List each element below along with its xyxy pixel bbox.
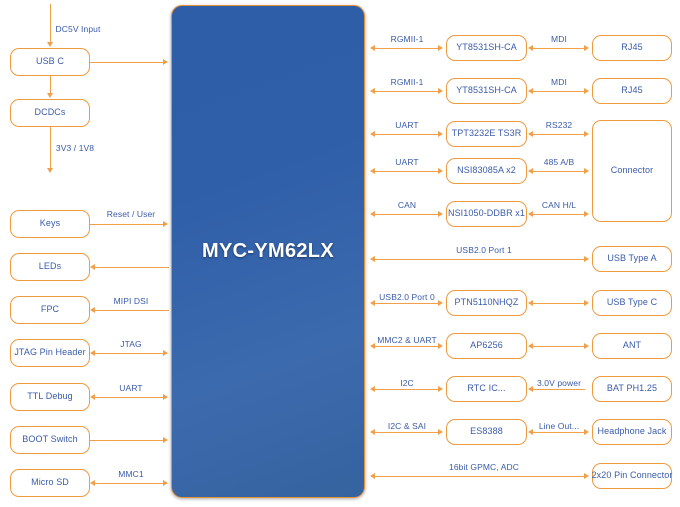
box-wifi-bt-module-label: AP6256 — [470, 341, 503, 351]
wire-usb20-port0 — [375, 303, 439, 304]
box-keys[interactable]: Keys — [10, 210, 90, 238]
box-boot-switch-label: BOOT Switch — [22, 435, 77, 445]
arrowhead-i2c-rtc-right — [438, 386, 443, 392]
wire-usbpd-to-typec — [533, 303, 585, 304]
wire-rgmii-1a — [375, 48, 439, 49]
label-rgmii-1b: RGMII-1 — [391, 77, 424, 87]
box-pin-connector[interactable]: 2x20 Pin Connector — [592, 463, 672, 489]
box-connector[interactable]: Connector — [592, 120, 672, 222]
box-usb-c-label: USB C — [36, 57, 64, 67]
box-micro-sd-label: Micro SD — [31, 478, 69, 488]
label-i2c-sai: I2C & SAI — [388, 421, 426, 431]
box-wifi-bt-module[interactable]: AP6256 — [446, 333, 527, 359]
arrowhead-usbpd-to-typec-left — [528, 300, 533, 306]
box-rs485-transceiver[interactable]: NSI83085A x2 — [446, 158, 527, 184]
box-boot-switch[interactable]: BOOT Switch — [10, 426, 90, 454]
label-usb20-port0: USB2.0 Port 0 — [379, 292, 435, 302]
wire-rs485-ab — [533, 171, 585, 172]
label-uart-rs485: UART — [395, 157, 418, 167]
wire-som-to-leds — [95, 267, 169, 268]
wire-keys-to-som — [90, 224, 164, 225]
arrowhead-mmc2-uart-left — [370, 343, 375, 349]
box-connector-label: Connector — [611, 166, 653, 176]
box-phy-2[interactable]: YT8531SH-CA — [446, 78, 527, 104]
arrowhead-uart-rs485-right — [438, 168, 443, 174]
arrowhead-can-hl-right — [584, 211, 589, 217]
wire-line-out — [533, 432, 585, 433]
arrowhead-can-hl-left — [528, 211, 533, 217]
box-dcdcs[interactable]: DCDCs — [10, 99, 90, 127]
wire-rails — [50, 127, 51, 169]
label-can-hl: CAN H/L — [542, 200, 576, 210]
wire-uart-rs232 — [375, 134, 439, 135]
box-rs232-transceiver[interactable]: TPT3232E TS3R — [446, 121, 527, 147]
arrowhead-keys-to-som — [163, 221, 168, 227]
box-micro-sd[interactable]: Micro SD — [10, 469, 90, 497]
arrowhead-rgmii-1b-left — [370, 88, 375, 94]
box-usb-type-a[interactable]: USB Type A — [592, 246, 672, 272]
label-rs485-ab: 485 A/B — [544, 157, 574, 167]
wire-mdi-2 — [533, 91, 585, 92]
arrowhead-wifi-to-ant-left — [528, 343, 533, 349]
box-fpc-label: FPC — [41, 305, 59, 315]
arrowhead-gpmc-adc-left — [370, 473, 375, 479]
label-mmc1: MMC1 — [118, 469, 143, 479]
arrowhead-rails — [47, 168, 53, 173]
arrowhead-mmc1-right — [163, 480, 168, 486]
arrowhead-wifi-to-ant-right — [584, 343, 589, 349]
label-rs232: RS232 — [546, 120, 573, 130]
arrowhead-rgmii-1a-left — [370, 45, 375, 51]
arrowhead-usbpd-to-typec-right — [584, 300, 589, 306]
box-can-transceiver[interactable]: NSI1050-DDBR x1 — [446, 201, 527, 227]
arrowhead-som-to-fpc — [90, 307, 95, 313]
wire-usbc-to-som — [90, 62, 164, 63]
arrowhead-can-left — [370, 211, 375, 217]
box-rs232-transceiver-label: TPT3232E TS3R — [452, 129, 522, 139]
label-uart-rs232: UART — [395, 120, 418, 130]
arrowhead-i2c-sai-left — [370, 429, 375, 435]
arrowhead-mmc2-uart-right — [438, 343, 443, 349]
wire-wifi-to-ant — [533, 346, 585, 347]
wire-uart-ttl — [95, 397, 164, 398]
box-dcdcs-label: DCDCs — [35, 108, 66, 118]
wire-som-to-fpc — [95, 310, 169, 311]
box-battery[interactable]: BAT PH1.25 — [592, 376, 672, 402]
box-rtc-ic[interactable]: RTC IC... — [446, 376, 527, 402]
arrowhead-gpmc-adc-right — [584, 473, 589, 479]
wire-rs232 — [533, 134, 585, 135]
arrowhead-usb20-port0-right — [438, 300, 443, 306]
label-line-out: Line Out... — [539, 421, 579, 431]
label-mipi-dsi: MIPI DSI — [114, 296, 149, 306]
arrowhead-uart-rs232-left — [370, 131, 375, 137]
arrowhead-rs485-ab-right — [584, 168, 589, 174]
wire-mmc2-uart — [375, 346, 439, 347]
arrowhead-usb20-port1-left — [370, 256, 375, 262]
arrowhead-mdi-2-right — [584, 88, 589, 94]
arrowhead-rgmii-1a-right — [438, 45, 443, 51]
wire-dc5v-input — [50, 4, 51, 43]
wire-jtag — [95, 353, 164, 354]
wire-battery-power — [533, 389, 585, 390]
wire-rgmii-1b — [375, 91, 439, 92]
label-i2c: I2C — [400, 378, 414, 388]
box-jtag-pin-header[interactable]: JTAG Pin Header — [10, 339, 90, 367]
label-usb20-port1: USB2.0 Port 1 — [456, 245, 512, 255]
arrowhead-rs232-left — [528, 131, 533, 137]
label-jtag: JTAG — [120, 339, 142, 349]
box-pin-connector-label: 2x20 Pin Connector — [592, 471, 673, 481]
arrowhead-jtag-right — [163, 350, 168, 356]
wire-mdi-1 — [533, 48, 585, 49]
box-rj45-2-label: RJ45 — [621, 86, 642, 96]
box-can-transceiver-label: NSI1050-DDBR x1 — [448, 209, 525, 219]
arrowhead-rgmii-1b-right — [438, 88, 443, 94]
arrowhead-i2c-rtc-left — [370, 386, 375, 392]
wire-usb20-port1 — [375, 259, 585, 260]
arrowhead-line-out-right — [584, 429, 589, 435]
arrowhead-som-to-leds — [90, 264, 95, 270]
arrowhead-can-right — [438, 211, 443, 217]
arrowhead-line-out-left — [528, 429, 533, 435]
box-usb-type-c[interactable]: USB Type C — [592, 290, 672, 316]
wire-i2c-sai — [375, 432, 439, 433]
som-module-block[interactable]: MYC-YM62LX — [171, 5, 365, 498]
wire-can-hl — [533, 214, 585, 215]
box-battery-label: BAT PH1.25 — [607, 384, 657, 394]
wire-gpmc-adc — [375, 476, 585, 477]
label-gpmc-adc: 16bit GPMC, ADC — [449, 462, 519, 472]
label-can: CAN — [398, 200, 416, 210]
arrowhead-usb20-port1-right — [584, 256, 589, 262]
box-audio-codec[interactable]: ES8388 — [446, 419, 527, 445]
label-mdi-2: MDI — [551, 77, 567, 87]
box-usb-pd-controller-label: PTN5110NHQZ — [455, 298, 519, 308]
arrowhead-jtag-left — [90, 350, 95, 356]
wire-boot-switch-to-som — [90, 440, 164, 441]
box-ant[interactable]: ANT — [592, 333, 672, 359]
box-jtag-pin-header-label: JTAG Pin Header — [14, 348, 85, 358]
box-phy-1[interactable]: YT8531SH-CA — [446, 35, 527, 61]
box-rs485-transceiver-label: NSI83085A x2 — [457, 166, 516, 176]
arrowhead-mmc1-left — [90, 480, 95, 486]
box-rtc-ic-label: RTC IC... — [467, 384, 505, 394]
box-rj45-1-label: RJ45 — [621, 43, 642, 53]
wire-can — [375, 214, 439, 215]
box-usb-type-a-label: USB Type A — [607, 254, 656, 264]
label-power-30v: 3.0V power — [537, 378, 581, 388]
arrowhead-uart-ttl-right — [163, 394, 168, 400]
box-usb-c[interactable]: USB C — [10, 48, 90, 76]
arrowhead-rs232-right — [584, 131, 589, 137]
arrowhead-usb20-port0-left — [370, 300, 375, 306]
box-ant-label: ANT — [623, 341, 641, 351]
arrowhead-uart-rs485-left — [370, 168, 375, 174]
box-leds-label: LEDs — [39, 262, 61, 272]
label-rails: 3V3 / 1V8 — [56, 143, 94, 153]
block-diagram-canvas: MYC-YM62LX USB C DCDCs Keys LEDs FPC JTA… — [0, 0, 680, 507]
wire-usbc-to-dcdcs — [50, 76, 51, 94]
wire-i2c-rtc — [375, 389, 439, 390]
box-keys-label: Keys — [40, 219, 60, 229]
box-fpc[interactable]: FPC — [10, 296, 90, 324]
arrowhead-boot-switch-to-som — [163, 437, 168, 443]
label-mmc2-uart: MMC2 & UART — [377, 335, 437, 345]
label-reset-user: Reset / User — [107, 209, 155, 219]
box-usb-pd-controller[interactable]: PTN5110NHQZ — [446, 290, 527, 316]
arrowhead-rs485-ab-left — [528, 168, 533, 174]
arrowhead-usbc-to-som — [163, 59, 168, 65]
wire-uart-rs485 — [375, 171, 439, 172]
label-mdi-1: MDI — [551, 34, 567, 44]
label-rgmii-1a: RGMII-1 — [391, 34, 424, 44]
box-phy-2-label: YT8531SH-CA — [456, 86, 517, 96]
box-rj45-2[interactable]: RJ45 — [592, 78, 672, 104]
label-dc5v-input: DC5V Input — [56, 24, 101, 34]
som-title: MYC-YM62LX — [202, 240, 334, 263]
arrowhead-dc5v-input — [47, 42, 53, 47]
box-leds[interactable]: LEDs — [10, 253, 90, 281]
arrowhead-uart-rs232-right — [438, 131, 443, 137]
arrowhead-battery-power-left — [528, 386, 533, 392]
box-audio-codec-label: ES8388 — [470, 427, 503, 437]
arrowhead-mdi-1-right — [584, 45, 589, 51]
arrowhead-mdi-1-left — [528, 45, 533, 51]
box-phy-1-label: YT8531SH-CA — [456, 43, 517, 53]
box-ttl-debug-label: TTL Debug — [27, 392, 73, 402]
box-ttl-debug[interactable]: TTL Debug — [10, 383, 90, 411]
box-headphone-jack[interactable]: Headphone Jack — [592, 419, 672, 445]
box-usb-type-c-label: USB Type C — [607, 298, 657, 308]
label-uart-ttl: UART — [119, 383, 142, 393]
arrowhead-usbc-to-dcdcs — [47, 93, 53, 98]
box-rj45-1[interactable]: RJ45 — [592, 35, 672, 61]
arrowhead-mdi-2-left — [528, 88, 533, 94]
box-headphone-jack-label: Headphone Jack — [598, 427, 667, 437]
arrowhead-uart-ttl-left — [90, 394, 95, 400]
wire-mmc1 — [95, 483, 164, 484]
arrowhead-i2c-sai-right — [438, 429, 443, 435]
